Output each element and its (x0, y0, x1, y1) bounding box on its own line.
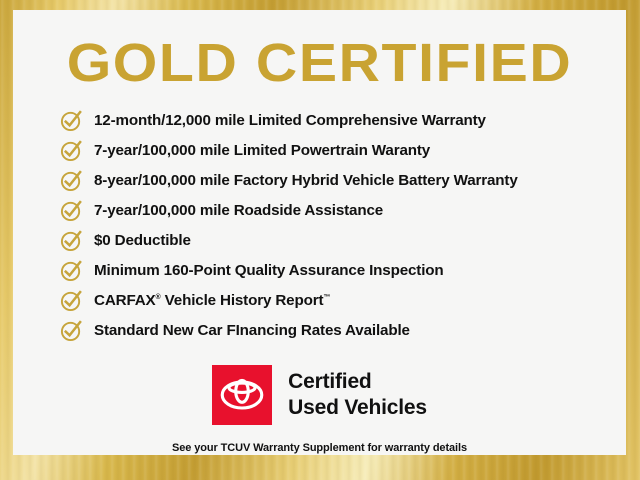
list-item-label: 8-year/100,000 mile Factory Hybrid Vehic… (94, 172, 518, 189)
badge-card: GOLD CERTIFIED 12-month/12,000 mile Limi… (13, 10, 626, 455)
list-item-label: $0 Deductible (94, 232, 191, 249)
list-item: Minimum 160-Point Quality Assurance Insp… (60, 255, 606, 285)
page-title: GOLD CERTIFIED (0, 36, 640, 90)
trademark-mark: ™ (323, 293, 330, 300)
list-item: CARFAX® Vehicle History Report™ (60, 285, 606, 315)
footnote-text: See your TCUV Warranty Supplement for wa… (13, 442, 626, 454)
logo-line-2: Used Vehicles (288, 395, 427, 421)
check-circle-icon (60, 109, 83, 132)
toyota-certified-used-vehicles-logo: Certified Used Vehicles (13, 365, 626, 425)
check-circle-icon (60, 229, 83, 252)
list-item: 7-year/100,000 mile Limited Powertrain W… (60, 135, 606, 165)
list-item: 8-year/100,000 mile Factory Hybrid Vehic… (60, 165, 606, 195)
check-circle-icon (60, 199, 83, 222)
list-item: Standard New Car FInancing Rates Availab… (60, 315, 606, 345)
list-item-label: Standard New Car FInancing Rates Availab… (94, 322, 410, 339)
carfax-wordmark: CARFAX (94, 292, 156, 309)
check-circle-icon (60, 169, 83, 192)
carfax-report-label: Vehicle History Report (161, 292, 324, 309)
list-item-label: 7-year/100,000 mile Roadside Assistance (94, 202, 383, 219)
benefits-list: 12-month/12,000 mile Limited Comprehensi… (60, 105, 606, 345)
list-item: 7-year/100,000 mile Roadside Assistance (60, 195, 606, 225)
check-circle-icon (60, 259, 83, 282)
check-circle-icon (60, 139, 83, 162)
check-circle-icon (60, 319, 83, 342)
check-circle-icon (60, 289, 83, 312)
list-item: 12-month/12,000 mile Limited Comprehensi… (60, 105, 606, 135)
gold-certified-badge: GOLD CERTIFIED 12-month/12,000 mile Limi… (0, 0, 640, 480)
list-item-label: 12-month/12,000 mile Limited Comprehensi… (94, 112, 486, 129)
logo-line-1: Certified (288, 369, 427, 395)
toyota-emblem-icon (212, 365, 272, 425)
certified-used-vehicles-label: Certified Used Vehicles (288, 369, 427, 422)
list-item-label: Minimum 160-Point Quality Assurance Insp… (94, 262, 444, 279)
list-item: $0 Deductible (60, 225, 606, 255)
list-item-label: 7-year/100,000 mile Limited Powertrain W… (94, 142, 430, 159)
list-item-label: CARFAX® Vehicle History Report™ (94, 292, 330, 309)
